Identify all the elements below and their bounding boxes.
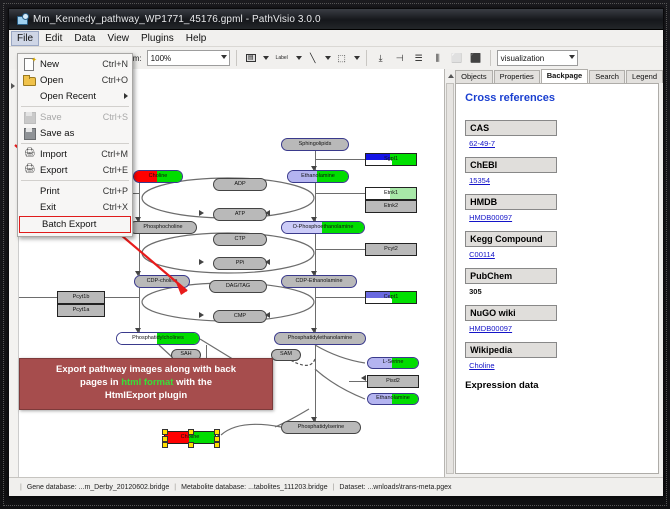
toolbar-divider-2 xyxy=(366,50,367,66)
pathway-arrowhead-1 xyxy=(311,217,317,222)
tab-search[interactable]: Search xyxy=(589,70,625,83)
pathway-node-adp[interactable]: ADP xyxy=(213,178,267,191)
align-top-button[interactable]: ⤓ xyxy=(373,50,389,66)
gene-database-value: ...m_Derby_20120602.bridge xyxy=(79,484,170,491)
distribute-button[interactable]: ☰ xyxy=(411,50,427,66)
xref-row: NuGO wikiHMDB00097 xyxy=(465,303,649,333)
file-menu-label: Print xyxy=(40,186,97,197)
node-label: Ethanolamine xyxy=(376,396,410,402)
node-label: O-Phosphoethanolamine xyxy=(293,225,354,231)
pathway-node-dag-tag[interactable]: DAG/TAG xyxy=(209,280,267,293)
tab-backpage[interactable]: Backpage xyxy=(541,69,588,83)
pathway-connector-v6 xyxy=(315,288,316,332)
pathway-arrowhead-6 xyxy=(311,417,317,422)
pathway-node-phosphatidylserine[interactable]: Phosphatidylserine xyxy=(281,421,361,434)
stack-icon: ⫼ xyxy=(436,54,440,63)
node-label: Phosphatidylethanolamine xyxy=(288,336,353,342)
selection-handle-0[interactable] xyxy=(162,429,168,435)
align-left-icon: ⊣ xyxy=(396,54,404,63)
pathway-connector-h0 xyxy=(315,159,365,160)
callout-line3: HtmlExport plugin xyxy=(26,389,266,402)
statusbar-sep-2: | xyxy=(333,484,335,491)
node-label: CDP-choline xyxy=(147,279,178,285)
file-menu-item-save-as[interactable]: Save as xyxy=(18,125,132,141)
file-menu-accelerator: Ctrl+M xyxy=(95,149,128,159)
gene-database-label: Gene database: xyxy=(27,484,77,491)
node-label: Choline xyxy=(149,174,168,180)
pathway-node-ctp[interactable]: CTP xyxy=(213,233,267,246)
file-menu-label: Open xyxy=(40,75,96,86)
pathway-gene-pcyt1b[interactable]: Pcyt1b xyxy=(57,291,105,304)
pathway-node-atp[interactable]: ATP xyxy=(213,208,267,221)
xref-row: CAS62-49-7 xyxy=(465,118,649,148)
xref-header: PubChem xyxy=(465,268,557,284)
file-menu-label: Import xyxy=(40,149,95,160)
line-button[interactable]: ╲ xyxy=(305,50,321,66)
callout-highlight: html format xyxy=(121,377,173,388)
file-menu-separator xyxy=(21,106,129,107)
visualization-combo[interactable]: visualization xyxy=(497,50,578,66)
xref-value: 305 xyxy=(469,287,649,296)
tab-objects[interactable]: Objects xyxy=(455,70,492,83)
xref-row: WikipediaCholine xyxy=(465,340,649,370)
file-menu-item-batch-export[interactable]: Batch Export xyxy=(19,216,131,233)
gene-label: Pisd2 xyxy=(386,379,400,385)
menu-file[interactable]: File xyxy=(11,31,39,46)
pathway-connector-h2 xyxy=(315,249,365,250)
pathway-gene-pcyt1a[interactable]: Pcyt1a xyxy=(57,304,105,317)
xref-value[interactable]: HMDB00097 xyxy=(469,324,649,333)
shape-button[interactable]: ⬚ xyxy=(334,50,350,66)
pathway-arrowhead-7 xyxy=(199,210,204,216)
node-label: ATP xyxy=(235,212,245,218)
pathway-node-choline-top[interactable]: Choline xyxy=(133,170,183,183)
tab-legend[interactable]: Legend xyxy=(626,70,663,83)
menu-item-no-icon xyxy=(22,185,36,197)
node-label: SAH xyxy=(180,352,191,358)
pathway-gene-etnk2[interactable]: Etnk2 xyxy=(365,200,417,213)
statusbar-sep-1: | xyxy=(174,484,176,491)
selection-handle-6[interactable] xyxy=(188,442,194,448)
ungroup-icon: ⬛ xyxy=(470,54,481,63)
file-menu-accelerator: Ctrl+E xyxy=(97,165,128,175)
pathway-node-o-phosphoethanolamine[interactable]: O-Phosphoethanolamine xyxy=(281,221,365,234)
menu-item-no-icon xyxy=(24,219,38,231)
node-label: Phosphatidylcholines xyxy=(132,336,184,342)
open-folder-icon xyxy=(22,74,36,86)
pathway-connector-h1 xyxy=(315,193,365,194)
pathway-node-phosphatidylcholines[interactable]: Phosphatidylcholines xyxy=(116,332,200,345)
save-icon xyxy=(22,111,36,123)
selection-handle-5[interactable] xyxy=(162,442,168,448)
xref-header: HMDB xyxy=(465,194,557,210)
node-label: CMP xyxy=(234,314,246,320)
callout-line2: pages in html format with the xyxy=(26,376,266,389)
selection-handle-3[interactable] xyxy=(162,436,168,442)
expression-data-title: Expression data xyxy=(465,380,649,391)
pathway-node-sphingolipids[interactable]: Sphingolipids xyxy=(281,138,349,151)
backpage-content: Cross references CAS62-49-7ChEBI15354HMD… xyxy=(455,83,659,474)
distribute-icon: ☰ xyxy=(415,54,423,63)
xref-value[interactable]: C00114 xyxy=(469,250,649,259)
export-icon xyxy=(22,164,36,176)
zoom-combo[interactable]: 100% xyxy=(147,50,230,66)
file-menu-separator xyxy=(21,180,129,181)
shape-dropdown-icon[interactable] xyxy=(354,56,360,60)
selection-handle-2[interactable] xyxy=(214,429,220,435)
annotation-callout: Export pathway images along with back pa… xyxy=(19,358,273,410)
tab-properties[interactable]: Properties xyxy=(494,70,540,83)
callout-line1-text: Export pathway images along with back xyxy=(56,364,236,375)
dataset-value: ...wnloads\trans-meta.pgex xyxy=(367,484,451,491)
selection-handle-7[interactable] xyxy=(214,442,220,448)
menu-edit[interactable]: Edit xyxy=(39,31,68,46)
gene-label: Cept1 xyxy=(384,295,399,301)
pathway-node-ppi[interactable]: PPi xyxy=(213,257,267,270)
align-left-button[interactable]: ⊣ xyxy=(392,50,408,66)
selection-handle-1[interactable] xyxy=(188,429,194,435)
sidebar-collapse-handle[interactable] xyxy=(446,83,454,474)
menu-help[interactable]: Help xyxy=(180,31,213,46)
callout-line1: Export pathway images along with back xyxy=(26,363,266,376)
pathway-arrowhead-13 xyxy=(311,166,317,171)
datanode-dropdown-icon[interactable] xyxy=(263,56,269,60)
xref-header: NuGO wiki xyxy=(465,305,557,321)
metabolite-database-label: Metabolite database: xyxy=(181,484,246,491)
label-icon: Label xyxy=(276,56,288,61)
node-label: L-Serine xyxy=(383,360,404,366)
file-menu-label: Batch Export xyxy=(42,219,126,230)
line-icon: ╲ xyxy=(310,54,315,63)
pathway-node-sam[interactable]: SAM xyxy=(271,349,301,361)
selection-handle-4[interactable] xyxy=(214,436,220,442)
pathway-connector-h3 xyxy=(315,297,365,298)
xref-header: ChEBI xyxy=(465,157,557,173)
desktop-backdrop: Mm_Kennedy_pathway_WP1771_45176.gpml - P… xyxy=(0,0,670,509)
save-as-icon xyxy=(22,127,36,139)
visualization-value: visualization xyxy=(501,54,545,63)
menu-data[interactable]: Data xyxy=(68,31,101,46)
import-icon xyxy=(22,148,36,160)
pathway-connector-h5 xyxy=(349,381,367,382)
file-menu-label: New xyxy=(40,59,96,70)
expand-arrow-icon[interactable] xyxy=(11,83,15,89)
toolbar-divider xyxy=(236,50,237,66)
statusbar: | Gene database: ...m_Derby_20120602.bri… xyxy=(9,477,663,496)
menu-view[interactable]: View xyxy=(101,31,135,46)
datanode-button[interactable]: ▤ xyxy=(243,50,259,66)
pathway-arrowhead-4 xyxy=(135,328,141,333)
node-label: PPi xyxy=(236,261,245,267)
node-label: Choline xyxy=(181,435,200,441)
xref-header: CAS xyxy=(465,120,557,136)
file-menu-separator xyxy=(21,143,129,144)
file-menu-item-open-recent[interactable]: Open Recent xyxy=(18,88,132,104)
chevron-down-icon xyxy=(221,55,227,59)
pathway-arrowhead-8 xyxy=(265,210,270,216)
line-dropdown-icon[interactable] xyxy=(325,56,331,60)
file-menu-accelerator: Ctrl+P xyxy=(97,186,128,196)
pathway-gene-etnk1[interactable]: Etnk1 xyxy=(365,187,417,200)
node-label: CTP xyxy=(235,237,246,243)
zoom-value: 100% xyxy=(151,54,171,63)
menu-item-no-icon xyxy=(22,201,36,213)
gene-label: Pcyt1a xyxy=(73,308,90,314)
menu-item-no-icon xyxy=(22,90,36,102)
sidebar-tabs: Objects Properties Backpage Search Legen… xyxy=(445,69,663,83)
datanode-icon: ▤ xyxy=(246,54,256,62)
new-file-icon xyxy=(22,58,36,70)
file-menu-accelerator: Ctrl+N xyxy=(96,59,128,69)
node-label: ADP xyxy=(234,182,245,188)
xref-row: Kegg CompoundC00114 xyxy=(465,229,649,259)
pathway-node-ethanolamine[interactable]: Ethanolamine xyxy=(287,170,349,183)
pathway-node-ethanolamine-2[interactable]: Ethanolamine xyxy=(367,393,419,405)
pathvisio-window: Mm_Kennedy_pathway_WP1771_45176.gpml - P… xyxy=(8,8,664,497)
submenu-arrow-icon xyxy=(124,93,128,99)
pathway-arrowhead-11 xyxy=(199,312,204,318)
xref-row: PubChem305 xyxy=(465,266,649,296)
statusbar-sep-0: | xyxy=(20,484,22,491)
gene-label: Sgpl1 xyxy=(384,157,398,163)
file-menu-dropdown[interactable]: NewCtrl+NOpenCtrl+OOpen RecentSaveCtrl+S… xyxy=(17,53,133,237)
callout-line3-text: HtmlExport plugin xyxy=(105,390,187,401)
chevron-down-icon-2 xyxy=(569,55,575,59)
pathway-arrowhead-9 xyxy=(199,259,204,265)
pathway-arrowhead-10 xyxy=(265,259,270,265)
dataset-label: Dataset: xyxy=(339,484,365,491)
pathway-node-cmp[interactable]: CMP xyxy=(213,310,267,323)
pathway-arrowhead-0 xyxy=(135,217,141,222)
callout-line2-b: with the xyxy=(173,377,212,388)
xref-value[interactable]: HMDB00097 xyxy=(469,213,649,222)
file-menu-label: Save as xyxy=(40,128,128,139)
pathvisio-icon xyxy=(16,13,28,25)
pathway-gene-pisd2[interactable]: Pisd2 xyxy=(367,375,419,388)
node-label: Sphingolipids xyxy=(299,142,332,148)
metabolite-database-value: ...tabolites_111203.bridge xyxy=(248,484,328,491)
pathway-node-cdp-choline[interactable]: CDP-choline xyxy=(134,275,190,288)
file-menu-label: Save xyxy=(40,112,97,123)
pathway-arrowhead-12 xyxy=(265,312,270,318)
file-menu-item-open[interactable]: OpenCtrl+O xyxy=(18,72,132,88)
file-menu-accelerator: Ctrl+O xyxy=(96,75,128,85)
file-menu-label: Open Recent xyxy=(40,91,128,102)
menubar: File Edit Data View Plugins Help xyxy=(9,30,663,47)
callout-line2-a: pages in xyxy=(80,377,121,388)
xref-value[interactable]: 62-49-7 xyxy=(469,139,649,148)
xref-row: HMDBHMDB00097 xyxy=(465,192,649,222)
pathway-gene-pcyt2[interactable]: Pcyt2 xyxy=(365,243,417,256)
file-menu-item-exit[interactable]: ExitCtrl+X xyxy=(18,199,132,215)
file-menu-accelerator: Ctrl+S xyxy=(97,112,128,122)
node-label: SAM xyxy=(280,352,292,358)
label-button[interactable]: Label xyxy=(272,50,292,66)
file-menu-item-print[interactable]: PrintCtrl+P xyxy=(18,183,132,199)
node-label: Phosphocholine xyxy=(143,225,182,231)
node-label: DAG/TAG xyxy=(226,284,250,290)
xref-header: Wikipedia xyxy=(465,342,557,358)
node-label: CDP-Ethanolamine xyxy=(295,279,342,285)
file-menu-item-export[interactable]: ExportCtrl+E xyxy=(18,162,132,178)
pathway-node-phosphocholine[interactable]: Phosphocholine xyxy=(129,221,197,234)
gene-label: Etnk2 xyxy=(384,204,398,210)
node-label: Ethanolamine xyxy=(301,174,335,180)
xref-value[interactable]: Choline xyxy=(469,361,649,370)
gene-label: Pcyt2 xyxy=(384,247,398,253)
pathway-arrowhead-2 xyxy=(135,271,141,276)
sidebar-panel: Objects Properties Backpage Search Legen… xyxy=(445,69,663,478)
file-menu-item-save: SaveCtrl+S xyxy=(18,109,132,125)
ungroup-button[interactable]: ⬛ xyxy=(468,50,484,66)
pathway-connector-v5 xyxy=(315,234,316,275)
gene-label: Pcyt1b xyxy=(73,295,90,301)
file-menu-label: Exit xyxy=(40,202,97,213)
pathway-connector-v4 xyxy=(315,183,316,221)
menu-plugins[interactable]: Plugins xyxy=(135,31,180,46)
group-icon: ⬜ xyxy=(451,54,462,63)
pathway-node-cdp-ethanolamine[interactable]: CDP-Ethanolamine xyxy=(281,275,357,288)
gene-label: Etnk1 xyxy=(384,191,398,197)
group-button[interactable]: ⬜ xyxy=(449,50,465,66)
cross-references-title: Cross references xyxy=(465,92,649,104)
node-label: Phosphatidylserine xyxy=(298,425,344,431)
pathway-gene-sgpl1[interactable]: Sgpl1 xyxy=(365,153,417,166)
stack-button[interactable]: ⫼ xyxy=(430,50,446,66)
file-menu-label: Export xyxy=(40,165,97,176)
pathway-arrowhead-15 xyxy=(361,375,366,381)
file-menu-item-new[interactable]: NewCtrl+N xyxy=(18,56,132,72)
pathway-gene-cept1[interactable]: Cept1 xyxy=(365,291,417,304)
file-menu-accelerator: Ctrl+X xyxy=(97,202,128,212)
toolbar-divider-3 xyxy=(490,50,491,66)
cross-references-list: CAS62-49-7ChEBI15354HMDBHMDB00097Kegg Co… xyxy=(465,118,649,370)
xref-value[interactable]: 15354 xyxy=(469,176,649,185)
pathway-arrowhead-3 xyxy=(311,271,317,276)
window-titlebar: Mm_Kennedy_pathway_WP1771_45176.gpml - P… xyxy=(9,9,663,30)
pathway-arrowhead-5 xyxy=(311,328,317,333)
xref-row: ChEBI15354 xyxy=(465,155,649,185)
pathway-node-l-serine[interactable]: L-Serine xyxy=(367,357,419,369)
label-dropdown-icon[interactable] xyxy=(296,56,302,60)
align-top-icon: ⤓ xyxy=(379,54,383,63)
xref-header: Kegg Compound xyxy=(465,231,557,247)
window-title: Mm_Kennedy_pathway_WP1771_45176.gpml - P… xyxy=(33,14,321,25)
pathway-node-phosphatidylethanolamine[interactable]: Phosphatidylethanolamine xyxy=(274,332,366,345)
file-menu-item-import[interactable]: ImportCtrl+M xyxy=(18,146,132,162)
shape-icon: ⬚ xyxy=(337,54,346,63)
